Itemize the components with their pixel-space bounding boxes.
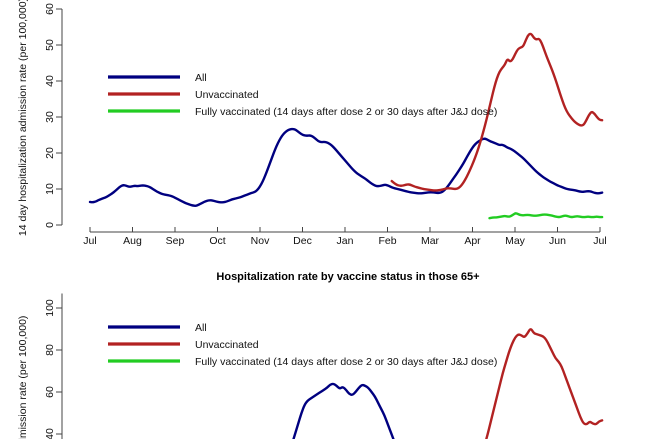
x-axis-tick-label: Oct	[209, 235, 225, 247]
y-axis-title: on admission rate (per 100,000)	[17, 316, 29, 439]
x-axis-tick-label: Jul	[83, 235, 96, 247]
y-axis-tick-label: 60	[44, 386, 56, 398]
x-axis-tick-label: Mar	[421, 235, 440, 247]
y-axis-tick-label: 10	[44, 183, 56, 195]
x-axis-tick-label: Feb	[378, 235, 396, 247]
y-axis-tick-label: 30	[44, 111, 56, 123]
legend-item-fully-vaccinated-label: Fully vaccinated (14 days after dose 2 o…	[195, 106, 497, 118]
x-axis-tick-label: Jan	[337, 235, 354, 247]
series-line-unvaccinated	[481, 329, 602, 439]
y-axis-tick-label: 50	[44, 39, 56, 51]
x-axis-tick-label: Sep	[166, 235, 185, 247]
chart-svg-all-ages: 010203040506014 day hospitalization admi…	[0, 0, 659, 262]
series-line-all	[286, 384, 401, 439]
y-axis-tick-label: 40	[44, 75, 56, 87]
legend-item-fully-vaccinated-label: Fully vaccinated (14 days after dose 2 o…	[195, 356, 497, 368]
series-group-all-ages	[90, 34, 602, 218]
y-axis-tick-label: 0	[44, 222, 56, 228]
legend-age-65-plus: AllUnvaccinatedFully vaccinated (14 days…	[108, 322, 497, 368]
figure-container: 010203040506014 day hospitalization admi…	[0, 0, 659, 439]
chart-panel-all-ages: 010203040506014 day hospitalization admi…	[0, 0, 659, 262]
axes-all-ages: 010203040506014 day hospitalization admi…	[17, 0, 607, 247]
legend-item-unvaccinated-label: Unvaccinated	[195, 89, 259, 101]
y-axis-title: 14 day hospitalization admission rate (p…	[17, 0, 29, 236]
chart-panel-age-65-plus: Hospitalization rate by vaccine status i…	[0, 262, 659, 439]
legend-item-all-label: All	[195, 72, 207, 84]
series-group-age-65-plus	[286, 329, 603, 439]
chart-svg-age-65-plus: Hospitalization rate by vaccine status i…	[0, 262, 659, 439]
y-axis-tick-label: 40	[44, 428, 56, 439]
x-axis-tick-label: Dec	[293, 235, 312, 247]
x-axis-tick-label: Aug	[123, 235, 142, 247]
y-axis-tick-label: 20	[44, 147, 56, 159]
series-line-fully	[490, 213, 603, 218]
y-axis-tick-label: 100	[44, 299, 56, 317]
legend-all-ages: AllUnvaccinatedFully vaccinated (14 days…	[108, 72, 497, 118]
x-axis-tick-label: Nov	[251, 235, 270, 247]
x-axis-tick-label: May	[505, 235, 526, 247]
x-axis-tick-label: Apr	[464, 235, 481, 247]
y-axis-tick-label: 80	[44, 344, 56, 356]
x-axis-tick-label: Jun	[549, 235, 566, 247]
y-axis-tick-label: 60	[44, 3, 56, 15]
axes-age-65-plus: 406080100on admission rate (per 100,000)	[17, 293, 62, 439]
x-axis-tick-label: Jul	[593, 235, 606, 247]
legend-item-all-label: All	[195, 322, 207, 334]
page-title: Hospitalization rate by vaccine status i…	[216, 271, 479, 283]
series-line-all	[90, 129, 602, 206]
legend-item-unvaccinated-label: Unvaccinated	[195, 339, 259, 351]
